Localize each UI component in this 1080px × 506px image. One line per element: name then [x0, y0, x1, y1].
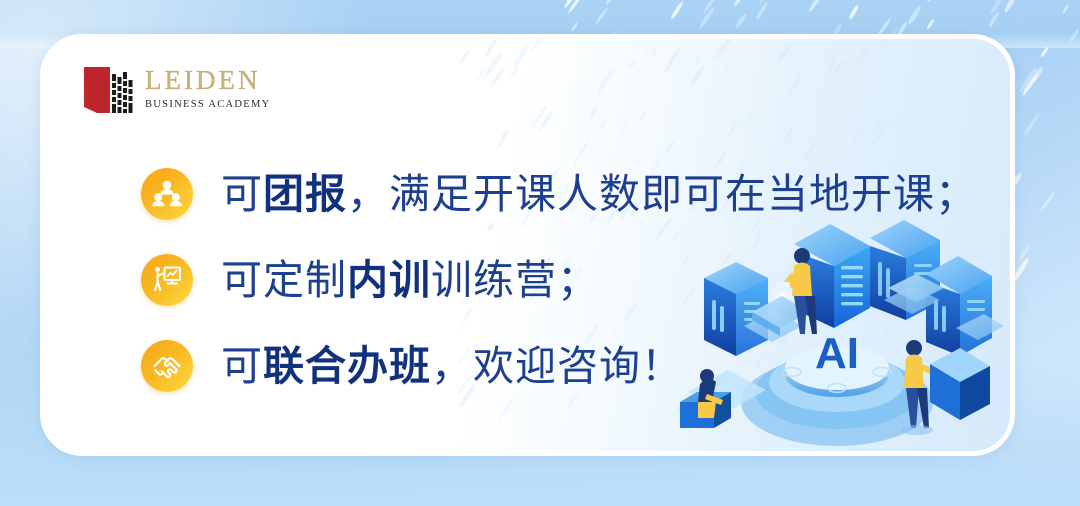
book-building-icon [81, 63, 139, 117]
benefit-text-prefix: 可 [221, 343, 263, 389]
benefit-text-highlight: 联合办班 [263, 343, 431, 389]
benefit-text-suffix: ，欢迎咨询！ [431, 343, 683, 389]
ai-data-center-isometric-illustration: AI [674, 216, 1004, 451]
brand-name: LEIDEN [145, 67, 271, 94]
benefit-text: 可联合办班，欢迎咨询！ [221, 346, 683, 387]
brand-logo: LEIDEN BUSINESS ACADEMY [81, 63, 271, 117]
benefit-text-highlight: 团报 [263, 171, 347, 217]
training-presentation-icon [141, 254, 193, 306]
benefit-text-suffix: 训练营； [431, 257, 599, 303]
benefit-text-suffix: ，满足开课人数即可在当地开课； [347, 171, 977, 217]
handshake-icon [141, 340, 193, 392]
benefit-text-prefix: 可 [221, 171, 263, 217]
benefit-text: 可定制内训训练营； [221, 260, 599, 301]
benefit-text-highlight: 内训 [347, 257, 431, 303]
brand-tagline: BUSINESS ACADEMY [145, 99, 271, 110]
ai-label: AI [815, 329, 859, 378]
poster-canvas: LEIDEN BUSINESS ACADEMY [0, 0, 1080, 506]
benefit-text: 可团报，满足开课人数即可在当地开课； [221, 174, 977, 215]
content-card: LEIDEN BUSINESS ACADEMY [40, 34, 1015, 456]
group-people-icon [141, 168, 193, 220]
benefit-text-prefix: 可定制 [221, 257, 347, 303]
brand-wordmark: LEIDEN BUSINESS ACADEMY [145, 63, 271, 110]
worker-figure [901, 340, 990, 435]
